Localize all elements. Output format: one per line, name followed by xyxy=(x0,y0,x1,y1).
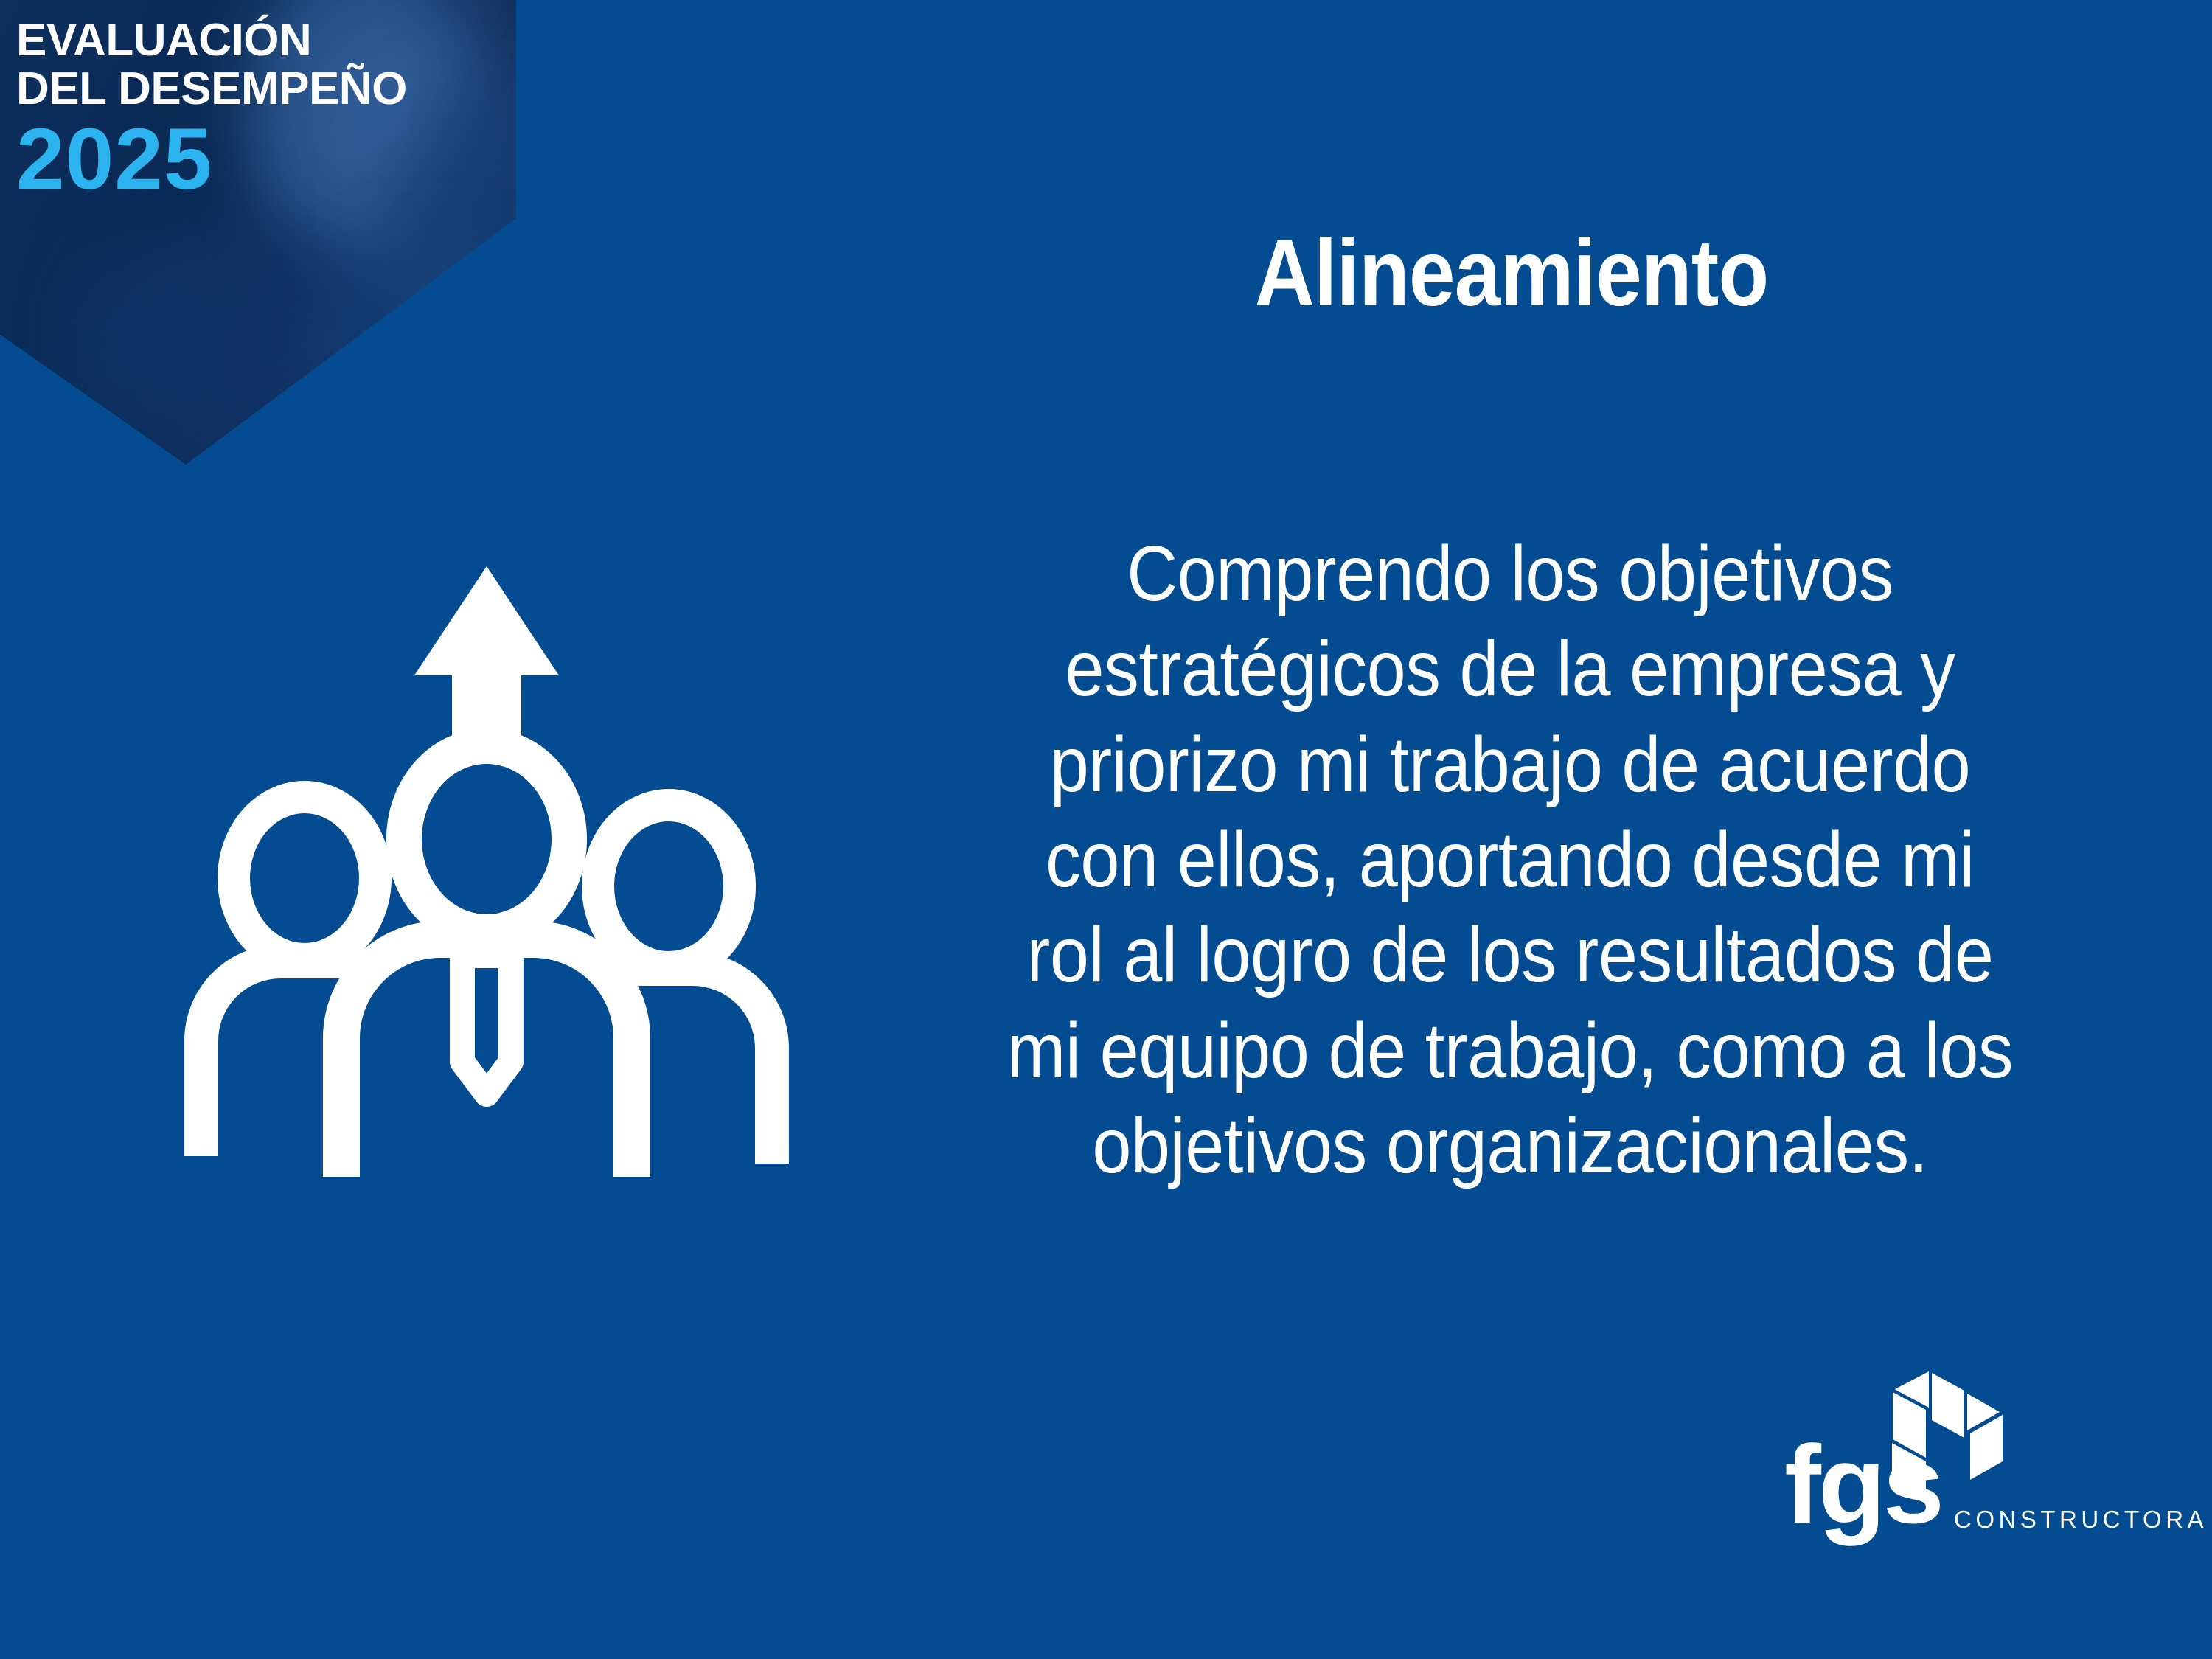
badge-line-evaluacion: EVALUACIÓN xyxy=(16,16,503,65)
person-left-head xyxy=(234,797,375,959)
badge-texture-blob xyxy=(88,221,398,442)
arrow-up-icon xyxy=(414,566,559,743)
team-alignment-icon xyxy=(144,546,829,1180)
slide-canvas: EVALUACIÓN DEL DESEMPEÑO 2025 xyxy=(0,0,2212,1659)
fgs-constructora-logo: fgs CONSTRUCTORA xyxy=(1784,1371,2168,1571)
badge-text-group: EVALUACIÓN DEL DESEMPEÑO 2025 xyxy=(16,16,503,203)
badge-year: 2025 xyxy=(16,116,503,203)
person-center-head xyxy=(404,746,569,932)
person-right-head xyxy=(598,805,740,967)
person-center-body xyxy=(341,939,632,1177)
page-title: Alineamiento xyxy=(1006,224,2018,323)
necktie-icon xyxy=(462,956,511,1094)
badge-texture-blob xyxy=(317,243,516,465)
slide-body-text: Comprendo los objetivos estratégicos de … xyxy=(999,526,2021,1194)
fgs-tagline: CONSTRUCTORA xyxy=(1954,1507,2208,1531)
fgs-wordmark: fgs xyxy=(1784,1429,1941,1540)
badge-line-desempeno: DEL DESEMPEÑO xyxy=(16,65,503,114)
campaign-badge: EVALUACIÓN DEL DESEMPEÑO 2025 xyxy=(0,0,516,465)
